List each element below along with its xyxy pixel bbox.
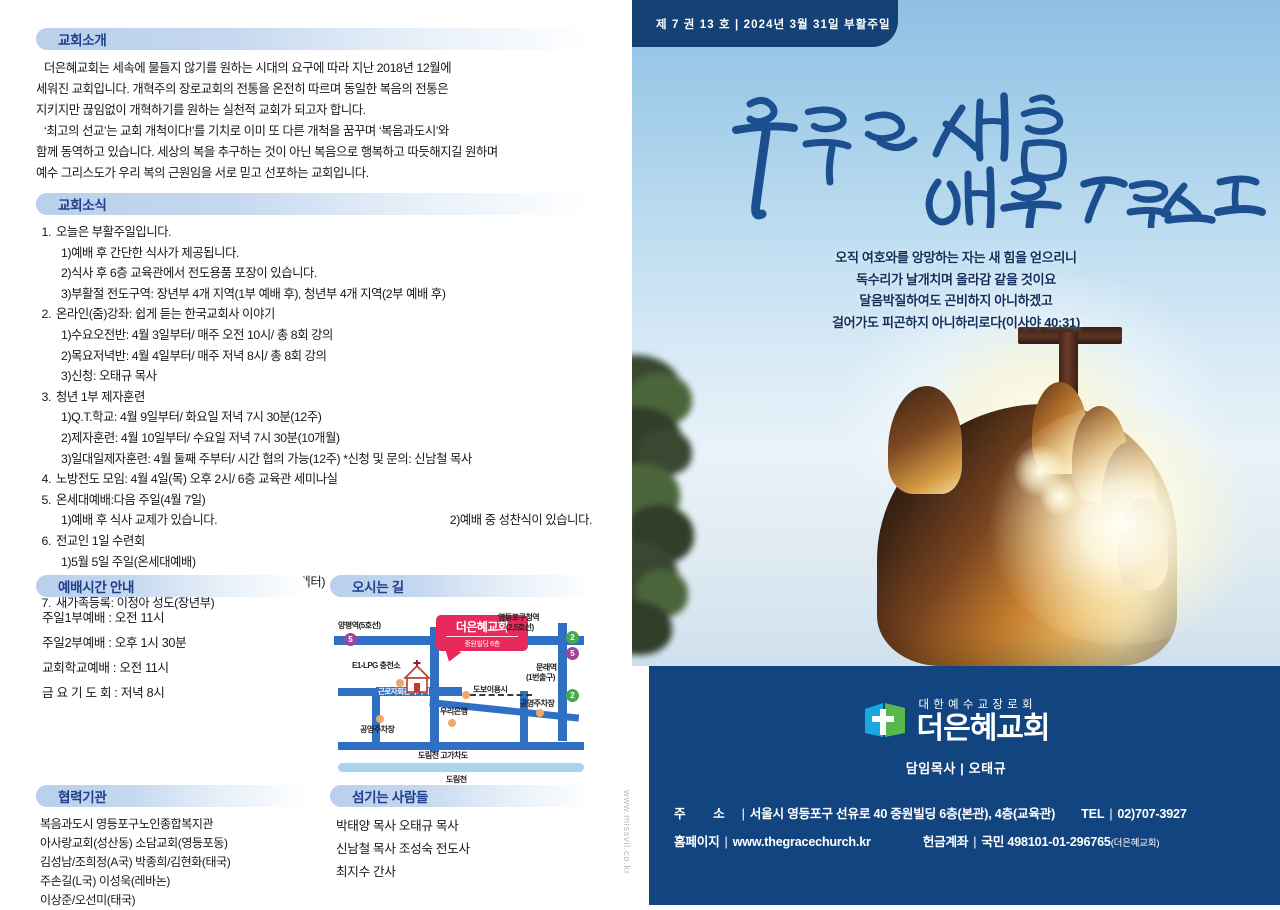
contact-info: 주 소 | 서울시 영등포구 선유로 40 중원빌딩 6층(본관), 4층(교육… [632, 800, 1280, 858]
servants-list: 박태양 목사 오태규 목사 신남철 목사 조성숙 전도사 최지수 간사 [330, 815, 592, 884]
directions-section-bar: 오시는 길 [330, 575, 592, 597]
partner-row: 복음과도시 영등포구노인종합복지관 [36, 815, 308, 834]
logo-church-name: 더은혜교회 [917, 713, 1050, 745]
news-item: 2. 온라인(줌)강좌: 쉽게 듣는 한국교회사 이야기 [36, 304, 592, 325]
news-subitem: 3)신청: 오태규 목사 [36, 366, 592, 387]
news-number: 2. [36, 304, 56, 325]
map-label: 도림천 [446, 775, 467, 785]
news-section: 교회소식 1. 오늘은 부활주일입니다. 1)예배 후 간단한 식사가 제공됩니… [36, 193, 592, 613]
news-sub-text: 3)일대일제자훈련: 4월 둘째 주부터/ 시간 협의 가능(12주) *신청 … [61, 449, 592, 470]
footer-left-white-strip [632, 666, 649, 905]
news-subitem: 1)Q.T.학교: 4월 9일부터/ 화요일 저녁 7시 30분(12주) [36, 407, 592, 428]
servant-row: 박태양 목사 오태규 목사 [330, 815, 592, 838]
news-list: 1. 오늘은 부활주일입니다. 1)예배 후 간단한 식사가 제공됩니다. 2)… [36, 222, 592, 613]
directions-section: 오시는 길 [330, 575, 592, 790]
news-subitem: 1)수요오전반: 4월 3일부터/ 매주 오전 10시/ 총 8회 강의 [36, 325, 592, 346]
hand-thumb [888, 386, 962, 494]
news-subitem: 3)일대일제자훈련: 4월 둘째 주부터/ 시간 협의 가능(12주) *신청 … [36, 449, 592, 470]
tel-label: TEL [1081, 800, 1104, 828]
news-text: 오늘은 부활주일입니다. [56, 222, 592, 243]
verse-line: 걸어가도 피곤하지 아니하리로다(이사야 40:31) [632, 312, 1280, 334]
news-subitem: 2)식사 후 6층 교육관에서 전도용품 포장이 있습니다. [36, 263, 592, 284]
separator-pipe: | [720, 828, 733, 856]
worship-list: 주일1부예배 : 오전 11시 주일2부예배 : 오후 1시 30분 교회학교예… [36, 606, 308, 706]
intro-body: 더은혜교회는 세속에 물들지 않기를 원하는 시대의 요구에 따라 지난 201… [36, 58, 592, 184]
watermark-url: www.missvil.co.kr [618, 790, 632, 900]
partner-row: 주손길(L국) 이성욱(레바논) [36, 872, 308, 891]
logo-book-cross-icon [863, 699, 907, 743]
news-sub-text: 2)목요저녁반: 4월 4일부터/ 매주 저녁 8시/ 총 8회 강의 [61, 346, 592, 367]
partners-list: 복음과도시 영등포구노인종합복지관 아사랑교회(성산동) 소담교회(영등포동) … [36, 815, 308, 910]
news-item: 5. 온세대예배:다음 주일(4월 7일) [36, 490, 592, 511]
news-sub-text: 1)5월 5일 주일(온세대예배) [61, 552, 592, 573]
map-label: (1번출구) [526, 673, 555, 683]
left-page: 교회소개 더은혜교회는 세속에 물들지 않기를 원하는 시대의 요구에 따라 지… [0, 0, 620, 905]
partner-row: 이상준/오선미(태국) [36, 891, 308, 910]
homepage-label: 홈페이지 [674, 828, 720, 856]
worship-times-section: 예배시간 안내 주일1부예배 : 오전 11시 주일2부예배 : 오후 1시 3… [36, 575, 308, 706]
issue-text: 제 7 권 13 호 | 2024년 3월 31일 부활주일 [632, 16, 891, 32]
intro-line: 함께 동역하고 있습니다. 세상의 복을 추구하는 것이 아닌 복음으로 행복하… [36, 142, 592, 163]
intro-section-bar: 교회소개 [36, 28, 592, 50]
servants-heading: 섬기는 사람들 [330, 786, 428, 806]
map-subway-badge-line5b: 5 [566, 647, 579, 660]
news-heading: 교회소식 [36, 194, 106, 214]
map-label: E1-LPG 충전소 [352, 661, 400, 671]
news-text: 온세대예배:다음 주일(4월 7일) [56, 490, 592, 511]
callout-divider [446, 636, 518, 637]
map-river [338, 763, 584, 772]
intro-line: 예수 그리스도가 우리 복의 근원임을 서로 믿고 선포하는 교회입니다. [36, 163, 592, 184]
worship-row: 주일2부예배 : 오후 1시 30분 [36, 631, 308, 656]
news-section-bar: 교회소식 [36, 193, 592, 215]
separator-pipe: | [968, 828, 981, 856]
hand-holding-cross-photo [632, 330, 1280, 666]
intro-line: 지키지만 끊임없이 개혁하기를 원하는 실천적 교회가 되고자 합니다. [36, 100, 592, 121]
footer-panel: 대한예수교장로회 더은혜교회 담임목사 | 오태규 주 소 | 서울시 영등포구… [632, 666, 1280, 905]
news-sub-text: 1)Q.T.학교: 4월 9일부터/ 화요일 저녁 7시 30분(12주) [61, 407, 592, 428]
servants-section-bar: 섬기는 사람들 [330, 785, 592, 807]
church-icon [402, 660, 432, 694]
news-subitem: 1)예배 후 간단한 식사가 제공됩니다. [36, 243, 592, 264]
address-value: 서울시 영등포구 선유로 40 중원빌딩 6층(본관), 4층(교육관) [750, 800, 1055, 828]
contact-address-line: 주 소 | 서울시 영등포구 선유로 40 중원빌딩 6층(본관), 4층(교육… [674, 800, 1262, 828]
partner-row: 아사랑교회(성산동) 소담교회(영등포동) [36, 834, 308, 853]
map-label: 도림천 고가차도 [418, 751, 468, 761]
homepage-value[interactable]: www.thegracechurch.kr [733, 828, 871, 856]
tel-value[interactable]: 02)707-3927 [1117, 800, 1186, 828]
news-sub-text-left: 1)예배 후 식사 교제가 있습니다. [61, 510, 390, 531]
worship-section-bar: 예배시간 안내 [36, 575, 308, 597]
calligraphy-title: 우리의 새 힘 예수 그리스도 [632, 78, 1280, 228]
map-label: 영등포구청역 [498, 613, 539, 623]
news-number: 4. [36, 469, 56, 490]
servant-row: 최지수 간사 [330, 861, 592, 884]
news-item: 3. 청년 1부 제자훈련 [36, 387, 592, 408]
news-number: 1. [36, 222, 56, 243]
logo-text-block: 대한예수교장로회 더은혜교회 [917, 696, 1050, 745]
news-text: 온라인(줌)강좌: 쉽게 듣는 한국교회사 이야기 [56, 304, 592, 325]
bank-label: 헌금계좌 [923, 828, 969, 856]
news-sub-text: 2)제자훈련: 4월 10일부터/ 수요일 저녁 7시 30분(10개월) [61, 428, 592, 449]
partners-section: 협력기관 복음과도시 영등포구노인종합복지관 아사랑교회(성산동) 소담교회(영… [36, 785, 308, 910]
callout-church-floor: 중원빌딩 6층 [464, 639, 499, 649]
directions-heading: 오시는 길 [330, 576, 404, 596]
map-label: 공영주차장 [520, 699, 554, 709]
logo-denomination: 대한예수교장로회 [917, 696, 1050, 712]
intro-heading: 교회소개 [36, 29, 106, 49]
senior-pastor-line: 담임목사 | 오태규 [632, 758, 1280, 777]
news-sub-text: 2)식사 후 6층 교육관에서 전도용품 포장이 있습니다. [61, 263, 592, 284]
address-label: 주 소 [674, 800, 737, 828]
map-poi-dot [376, 715, 384, 723]
map-label: 문래역 [536, 663, 557, 673]
church-logo: 대한예수교장로회 더은혜교회 [632, 696, 1280, 745]
map-subway-badge-line2: 2 [566, 631, 579, 644]
intro-line: 세워진 교회입니다. 개혁주의 장로교회의 전통을 온전히 따르며 동일한 복음… [36, 79, 592, 100]
map-poi-dot [536, 709, 544, 717]
news-text: 노방전도 모임: 4월 4일(목) 오후 2시/ 6층 교육관 세미나실 [56, 469, 592, 490]
servant-row: 신남철 목사 조성숙 전도사 [330, 838, 592, 861]
worship-row: 금 요 기 도 회 : 저녁 8시 [36, 681, 308, 706]
map-label: 도보이용시 [473, 685, 507, 695]
news-number: 6. [36, 531, 56, 552]
partners-section-bar: 협력기관 [36, 785, 308, 807]
separator-pipe: | [1104, 800, 1117, 828]
intro-section: 교회소개 더은혜교회는 세속에 물들지 않기를 원하는 시대의 요구에 따라 지… [36, 28, 592, 184]
map-subway-badge-line5: 5 [344, 633, 357, 646]
map-label: (2,5호선) [506, 623, 534, 633]
news-subitem: 1)5월 5일 주일(온세대예배) [36, 552, 592, 573]
bulletin-page: 교회소개 더은혜교회는 세속에 물들지 않기를 원하는 시대의 요구에 따라 지… [0, 0, 1280, 905]
news-text: 청년 1부 제자훈련 [56, 387, 592, 408]
news-number: 3. [36, 387, 56, 408]
news-text: 전교인 1일 수련회 [56, 531, 592, 552]
contact-web-line: 홈페이지 | www.thegracechurch.kr 헌금계좌 | 국민 4… [674, 828, 1262, 858]
map-poi-dot [462, 691, 470, 699]
news-sub-text: 3)부활절 전도구역: 장년부 4개 지역(1부 예배 후), 청년부 4개 지… [61, 284, 592, 305]
news-sub-text: 1)예배 후 간단한 식사가 제공됩니다. [61, 243, 592, 264]
map-road-vertical-right [558, 623, 567, 741]
map-subway-badge-line2b: 2 [566, 689, 579, 702]
intro-line: 더은혜교회는 세속에 물들지 않기를 원하는 시대의 요구에 따라 지난 201… [36, 58, 592, 79]
news-subitem: 2)제자훈련: 4월 10일부터/ 수요일 저녁 7시 30분(10개월) [36, 428, 592, 449]
news-item: 1. 오늘은 부활주일입니다. [36, 222, 592, 243]
separator-pipe: | [737, 800, 750, 828]
calligraphy-svg [632, 78, 1280, 228]
location-map[interactable]: 근로자회관사거리 더은혜교회 중원빌딩 6층 양평역(5호선) [330, 605, 592, 790]
intro-line: ‘최고의 선교’는 교회 개척이다!’를 기치로 이미 또 다른 개척을 꿈꾸며… [36, 121, 592, 142]
issue-header-band: 제 7 권 13 호 | 2024년 3월 31일 부활주일 [632, 0, 898, 47]
worship-row: 교회학교예배 : 오전 11시 [36, 656, 308, 681]
news-subitem: 1)예배 후 식사 교제가 있습니다. 2)예배 중 성찬식이 있습니다. [36, 510, 592, 531]
servants-section: 섬기는 사람들 박태양 목사 오태규 목사 신남철 목사 조성숙 전도사 최지수… [330, 785, 592, 884]
right-page-cover: 제 7 권 13 호 | 2024년 3월 31일 부활주일 [632, 0, 1280, 905]
map-label: 우리은행 [440, 707, 467, 717]
news-item: 6. 전교인 1일 수련회 [36, 531, 592, 552]
news-subitem: 3)부활절 전도구역: 장년부 4개 지역(1부 예배 후), 청년부 4개 지… [36, 284, 592, 305]
verse-line: 오직 여호와를 앙망하는 자는 새 힘을 얻으리니 [632, 247, 1280, 269]
map-poi-dot [448, 719, 456, 727]
news-subitem: 2)목요저녁반: 4월 4일부터/ 매주 저녁 8시/ 총 8회 강의 [36, 346, 592, 367]
map-label: 양평역(5호선) [338, 621, 381, 631]
news-number: 5. [36, 490, 56, 511]
bank-owner: (더은혜교회) [1111, 830, 1160, 858]
verse-line: 달음박질하여도 곤비하지 아니하겠고 [632, 290, 1280, 312]
news-sub-text: 3)신청: 오태규 목사 [61, 366, 592, 387]
news-item: 4. 노방전도 모임: 4월 4일(목) 오후 2시/ 6층 교육관 세미나실 [36, 469, 592, 490]
verse-line: 독수리가 날개치며 올라감 같을 것이요 [632, 269, 1280, 291]
partner-row: 김성남/조희정(A국) 박종희/김현화(태국) [36, 853, 308, 872]
news-sub-text-right: 2)예배 중 성찬식이 있습니다. [390, 510, 592, 531]
bible-verse: 오직 여호와를 앙망하는 자는 새 힘을 얻으리니 독수리가 날개치며 올라감 … [632, 247, 1280, 333]
news-sub-text: 1)수요오전반: 4월 3일부터/ 매주 오전 10시/ 총 8회 강의 [61, 325, 592, 346]
map-label: 공영주차장 [360, 725, 394, 735]
bank-value: 국민 498101-01-296765 [981, 828, 1110, 856]
partners-heading: 협력기관 [36, 786, 106, 806]
worship-row: 주일1부예배 : 오전 11시 [36, 606, 308, 631]
worship-heading: 예배시간 안내 [36, 576, 134, 596]
